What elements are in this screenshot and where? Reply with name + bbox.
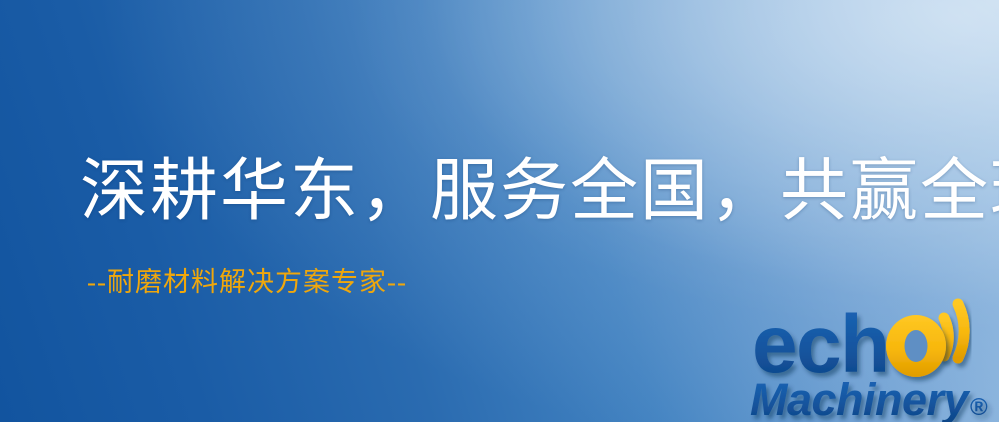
hero-banner: 深耕华东，服务全国，共赢全球 --耐磨材料解决方案专家-- (0, 0, 999, 422)
logo-svg: e c h Machinery ® (748, 296, 999, 422)
logo-letter-o (886, 315, 946, 377)
banner-headline: 深耕华东，服务全国，共赢全球 (80, 152, 999, 230)
logo-tagline: Machinery (750, 374, 971, 422)
echo-machinery-logo[interactable]: e c h Machinery ® (748, 296, 999, 422)
echo-wave-arcs (944, 304, 964, 358)
banner-subtitle: --耐磨材料解决方案专家-- (87, 266, 407, 298)
logo-registered-mark: ® (970, 394, 988, 421)
